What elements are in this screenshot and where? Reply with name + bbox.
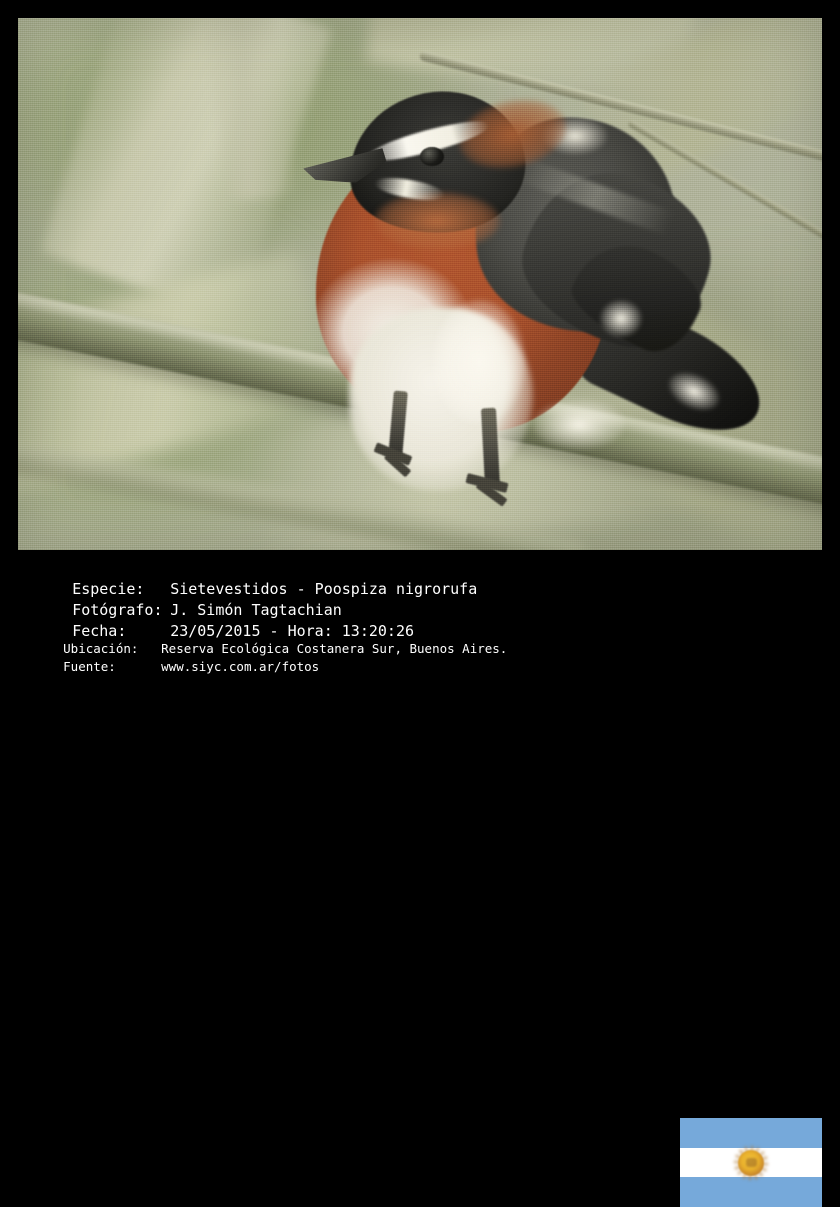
sun-of-may-face: [746, 1158, 757, 1167]
bird: [307, 92, 725, 507]
caption-row-source: Fuente:www.siyc.com.ar/fotos: [18, 648, 319, 686]
bird-flank-white-patch: [433, 300, 525, 424]
flag-stripe-top: [680, 1118, 822, 1148]
caption-label-source: Fuente:: [63, 661, 161, 674]
bird-undertail-coverts: [533, 400, 625, 450]
page-frame: Especie:Sietevestidos - Poospiza nigroru…: [0, 0, 840, 668]
caption-value-source: www.siyc.com.ar/fotos: [161, 661, 319, 674]
photo-canvas: [18, 18, 822, 550]
bird-photo: [18, 18, 822, 550]
bird-rump-white-patch: [600, 300, 642, 337]
argentina-flag-icon: [680, 1118, 822, 1207]
bird-eye: [420, 147, 443, 166]
caption-bar: Especie:Sietevestidos - Poospiza nigroru…: [0, 550, 840, 668]
flag-stripe-bottom: [680, 1177, 822, 1207]
bird-throat: [374, 192, 499, 250]
